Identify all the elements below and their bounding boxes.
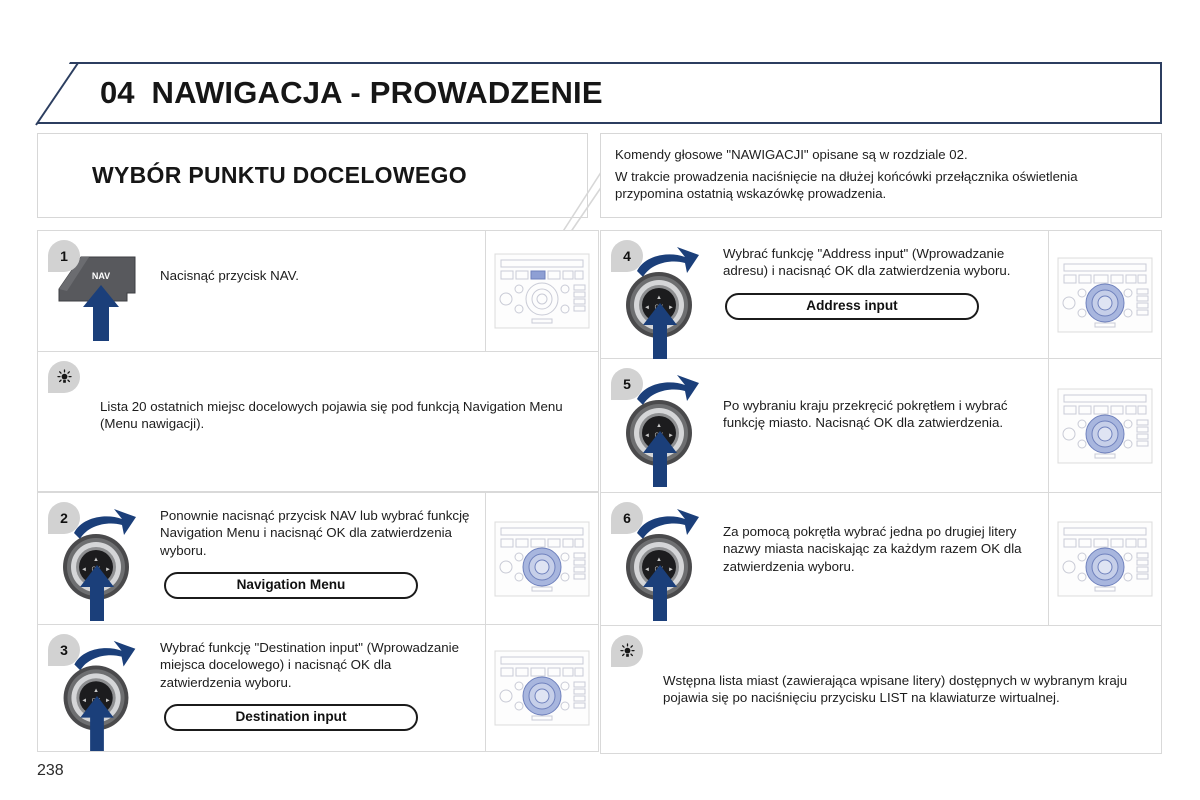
- step-4-content: 4 OK ◄ ► ▲ ▼: [601, 231, 1048, 358]
- step-5-content: 5 OK ◄ ► ▲ ▼: [601, 359, 1048, 492]
- step-3-pill[interactable]: Destination input: [164, 704, 418, 731]
- header-note-line-1: Komendy głosowe "NAWIGACJI" opisane są w…: [615, 146, 1147, 164]
- step-5-text: Po wybraniu kraju przekręcić pokrętłem i…: [723, 397, 1034, 432]
- page-number: 238: [37, 762, 64, 780]
- svg-text:◄: ◄: [644, 433, 650, 439]
- svg-text:►: ►: [105, 567, 111, 573]
- step-4-text: Wybrać funkcję "Address input" (Wprowadz…: [723, 245, 1034, 280]
- svg-text:►: ►: [105, 698, 111, 704]
- svg-text:►: ►: [668, 433, 674, 439]
- step-2-pill[interactable]: Navigation Menu: [164, 572, 418, 599]
- header-note-line-2: W trakcie prowadzenia naciśnięcie na dłu…: [615, 168, 1147, 203]
- right-column: 4 OK ◄ ► ▲ ▼: [600, 230, 1162, 754]
- step-row-5: 5 OK ◄ ► ▲ ▼: [600, 359, 1162, 493]
- svg-text:◄: ◄: [644, 305, 650, 311]
- tip-icon-2: [611, 635, 643, 667]
- step-4-text-wrap: Wybrać funkcję "Address input" (Wprowadz…: [719, 231, 1048, 330]
- step-4-pill[interactable]: Address input: [725, 293, 979, 320]
- step-3-content: 3 OK ◄ ► ▲ ▼: [38, 625, 485, 751]
- section-title: WYBÓR PUNKTU DOCELOWEGO: [92, 162, 467, 189]
- svg-text:▲: ▲: [93, 557, 99, 563]
- section-title-wrap: WYBÓR PUNKTU DOCELOWEGO: [37, 133, 588, 218]
- step-badge-5: 5: [611, 368, 643, 400]
- tip-icon: [48, 361, 80, 393]
- step-badge-6: 6: [611, 502, 643, 534]
- step-badge-3: 3: [48, 634, 80, 666]
- step-1-thumbnail: [485, 231, 598, 351]
- step-2-text: Ponownie nacisnąć przycisk NAV lub wybra…: [160, 507, 471, 559]
- tip-row-1: Lista 20 ostatnich miejsc docelowych poj…: [37, 352, 599, 492]
- tip-2-text-wrap: Wstępna lista miast (zawierająca wpisane…: [601, 626, 1161, 719]
- step-2-content: 2 OK ◄ ► ▲ ▼: [38, 493, 485, 624]
- svg-text:◄: ◄: [81, 567, 87, 573]
- svg-text:▲: ▲: [93, 688, 99, 694]
- step-2-text-wrap: Ponownie nacisnąć przycisk NAV lub wybra…: [156, 493, 485, 609]
- step-1-content: 1 NAV Nacisnąć przycisk NAV.: [38, 231, 485, 351]
- manual-page: 04 NAWIGACJA - PROWADZENIE WYBÓR PUNKTU …: [0, 0, 1200, 800]
- step-3-thumbnail: [485, 625, 598, 751]
- tip-1-text: Lista 20 ostatnich miejsc docelowych poj…: [100, 398, 576, 433]
- step-6-content: 6 OK ◄ ► ▲ ▼: [601, 493, 1048, 625]
- svg-text:◄: ◄: [81, 698, 87, 704]
- step-5-text-wrap: Po wybraniu kraju przekręcić pokrętłem i…: [719, 359, 1048, 442]
- step-1-text-wrap: Nacisnąć przycisk NAV.: [156, 231, 485, 294]
- tip-2-text: Wstępna lista miast (zawierająca wpisane…: [663, 672, 1139, 707]
- tip-row-2: Wstępna lista miast (zawierająca wpisane…: [600, 626, 1162, 754]
- step-6-thumbnail: [1048, 493, 1161, 625]
- step-1-text: Nacisnąć przycisk NAV.: [160, 267, 471, 284]
- step-row-3: 3 OK ◄ ► ▲ ▼: [37, 625, 599, 752]
- tip-1-text-wrap: Lista 20 ostatnich miejsc docelowych poj…: [38, 352, 598, 445]
- svg-text:▲: ▲: [656, 557, 662, 563]
- step-row-4: 4 OK ◄ ► ▲ ▼: [600, 230, 1162, 359]
- svg-text:▲: ▲: [656, 423, 662, 429]
- step-6-text: Za pomocą pokrętła wybrać jedna po drugi…: [723, 523, 1034, 575]
- step-3-text-wrap: Wybrać funkcję "Destination input" (Wpro…: [156, 625, 485, 741]
- left-column: 1 NAV Nacisnąć przycisk NAV.: [37, 230, 599, 752]
- step-3-text: Wybrać funkcję "Destination input" (Wpro…: [160, 639, 471, 691]
- step-badge-4: 4: [611, 240, 643, 272]
- svg-text:◄: ◄: [644, 567, 650, 573]
- page-title: NAWIGACJA - PROWADZENIE: [151, 75, 602, 111]
- step-2-thumbnail: [485, 493, 598, 624]
- step-badge-2: 2: [48, 502, 80, 534]
- step-5-thumbnail: [1048, 359, 1161, 492]
- svg-text:NAV: NAV: [92, 271, 110, 281]
- chapter-number: 04: [100, 75, 134, 111]
- chapter-heading: 04 NAWIGACJA - PROWADZENIE: [36, 62, 1162, 124]
- step-row-6: 6 OK ◄ ► ▲ ▼: [600, 493, 1162, 626]
- step-row-2: 2 OK ◄ ► ▲ ▼: [37, 492, 599, 625]
- svg-text:►: ►: [668, 305, 674, 311]
- svg-text:▲: ▲: [656, 295, 662, 301]
- header-note-panel: Komendy głosowe "NAWIGACJI" opisane są w…: [600, 133, 1162, 218]
- step-6-text-wrap: Za pomocą pokrętła wybrać jedna po drugi…: [719, 493, 1048, 585]
- step-badge-1: 1: [48, 240, 80, 272]
- step-4-thumbnail: [1048, 231, 1161, 358]
- step-row-1: 1 NAV Nacisnąć przycisk NAV.: [37, 230, 599, 352]
- svg-text:►: ►: [668, 567, 674, 573]
